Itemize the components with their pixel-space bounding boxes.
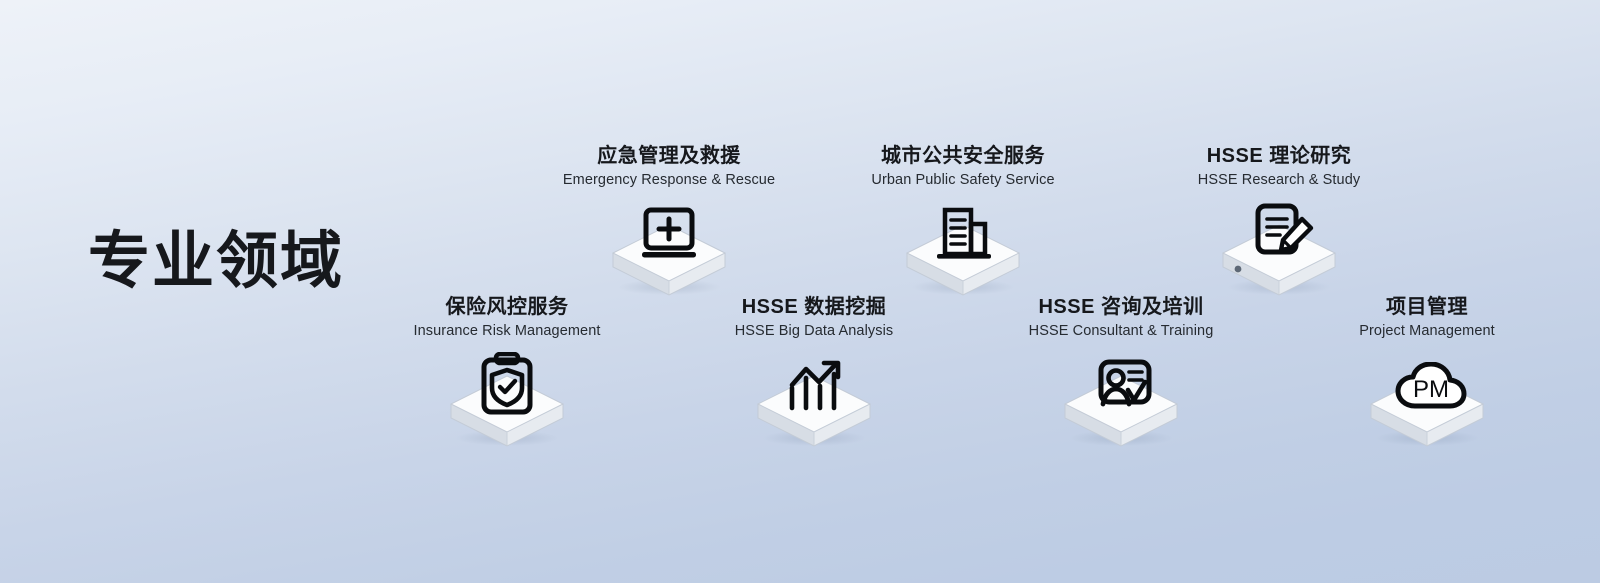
domain-icon-block xyxy=(689,354,939,464)
domain-icon-block: PM xyxy=(1302,354,1552,464)
domain-labels: HSSE 理论研究 HSSE Research & Study xyxy=(1154,144,1404,191)
domain-item-hsse-consultant-training[interactable]: HSSE 咨询及培训 HSSE Consultant & Training xyxy=(996,295,1246,464)
domain-label-en: Insurance Risk Management xyxy=(382,322,632,342)
domain-labels: 保险风控服务 Insurance Risk Management xyxy=(382,295,632,342)
domain-label-en: HSSE Big Data Analysis xyxy=(689,322,939,342)
domain-item-emergency-response-rescue[interactable]: 应急管理及救援 Emergency Response & Rescue xyxy=(544,144,794,313)
domain-item-hsse-big-data-analysis[interactable]: HSSE 数据挖掘 HSSE Big Data Analysis xyxy=(689,295,939,464)
domain-labels: HSSE 数据挖掘 HSSE Big Data Analysis xyxy=(689,295,939,342)
domain-icon-block xyxy=(382,354,632,464)
domain-labels: 应急管理及救援 Emergency Response & Rescue xyxy=(544,144,794,191)
domain-label-en: Emergency Response & Rescue xyxy=(544,171,794,191)
domain-label-cn: 城市公共安全服务 xyxy=(838,144,1088,168)
domain-label-cn: HSSE 咨询及培训 xyxy=(996,295,1246,319)
professional-domains-banner: 专业领域 应急管理及救援 Emergency Response & Rescue xyxy=(0,0,1600,583)
domain-labels: HSSE 咨询及培训 HSSE Consultant & Training xyxy=(996,295,1246,342)
domain-item-hsse-research-study[interactable]: HSSE 理论研究 HSSE Research & Study xyxy=(1154,144,1404,313)
domain-item-urban-public-safety-service[interactable]: 城市公共安全服务 Urban Public Safety Service xyxy=(838,144,1088,313)
domain-label-en: HSSE Research & Study xyxy=(1154,171,1404,191)
cloud-pm-icon: PM xyxy=(1394,362,1468,412)
cloud-pm-label: PM xyxy=(1413,376,1449,403)
domain-icon-block xyxy=(996,354,1246,464)
domain-label-cn: HSSE 理论研究 xyxy=(1154,144,1404,168)
id-card-person-check-icon xyxy=(1093,358,1157,414)
domain-label-en: Project Management xyxy=(1302,322,1552,342)
document-pencil-icon xyxy=(1252,203,1318,263)
domain-label-en: Urban Public Safety Service xyxy=(838,171,1088,191)
domain-labels: 城市公共安全服务 Urban Public Safety Service xyxy=(838,144,1088,191)
first-aid-cross-icon xyxy=(639,205,699,265)
bar-chart-trend-up-icon xyxy=(783,356,845,414)
domain-item-project-management[interactable]: 项目管理 Project Management PM xyxy=(1302,295,1552,464)
domain-item-insurance-risk-management[interactable]: 保险风控服务 Insurance Risk Management xyxy=(382,295,632,464)
domain-label-cn: 保险风控服务 xyxy=(382,295,632,319)
domain-label-cn: HSSE 数据挖掘 xyxy=(689,295,939,319)
clipboard-shield-check-icon xyxy=(478,352,536,416)
domain-label-cn: 项目管理 xyxy=(1302,295,1552,319)
domain-label-en: HSSE Consultant & Training xyxy=(996,322,1246,342)
domain-label-cn: 应急管理及救援 xyxy=(544,144,794,168)
page-title: 专业领域 xyxy=(88,228,344,296)
domain-labels: 项目管理 Project Management xyxy=(1302,295,1552,342)
city-buildings-icon xyxy=(933,206,993,264)
